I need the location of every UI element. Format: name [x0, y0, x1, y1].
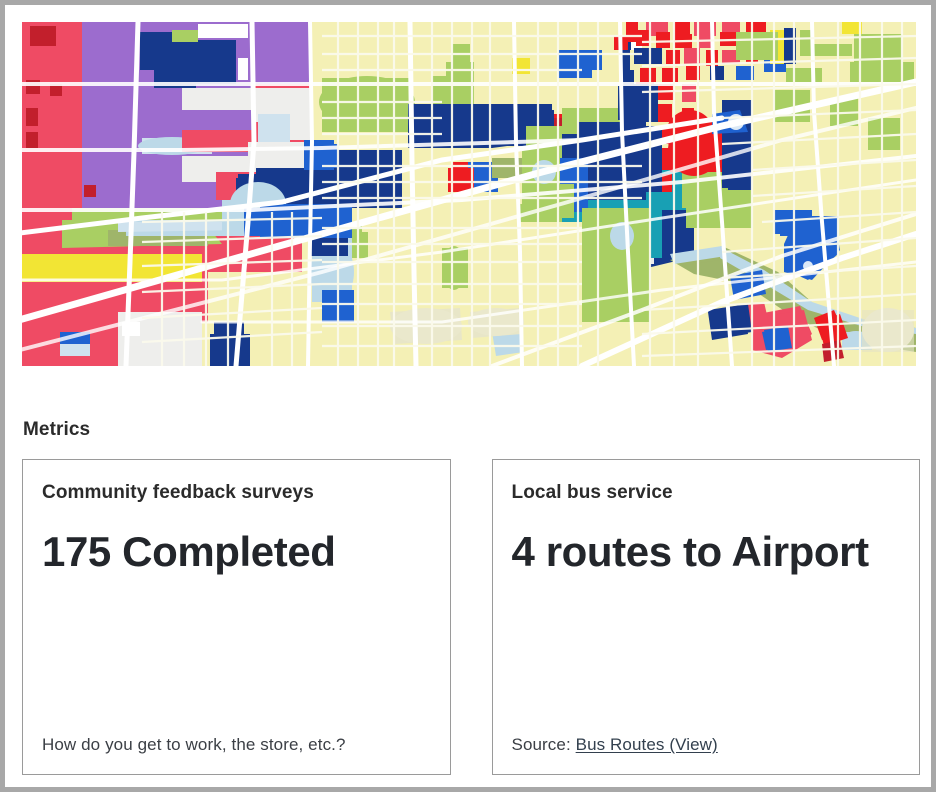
bus-routes-view-link[interactable]: Bus Routes (View)	[576, 735, 718, 754]
metric-card-value: 4 routes to Airport	[512, 529, 901, 574]
dashboard-page: Metrics Community feedback surveys 175 C…	[0, 0, 936, 792]
metrics-card-list: Community feedback surveys 175 Completed…	[22, 459, 920, 775]
metric-card-footer: Source: Bus Routes (View)	[512, 734, 901, 756]
metric-card-footer: How do you get to work, the store, etc.?	[42, 734, 431, 756]
metric-card-footer-text: How do you get to work, the store, etc.?	[42, 735, 346, 754]
metric-card-title: Community feedback surveys	[42, 482, 431, 505]
metric-card-community-feedback-surveys[interactable]: Community feedback surveys 175 Completed…	[22, 459, 451, 775]
metric-card-title: Local bus service	[512, 482, 901, 505]
metric-card-source-label: Source:	[512, 735, 576, 754]
metric-card-value: 175 Completed	[42, 529, 431, 574]
metric-card-local-bus-service[interactable]: Local bus service 4 routes to Airport So…	[492, 459, 921, 775]
map-image[interactable]	[22, 22, 916, 366]
metrics-heading: Metrics	[23, 419, 90, 441]
zoning-map-graphic	[22, 22, 916, 366]
